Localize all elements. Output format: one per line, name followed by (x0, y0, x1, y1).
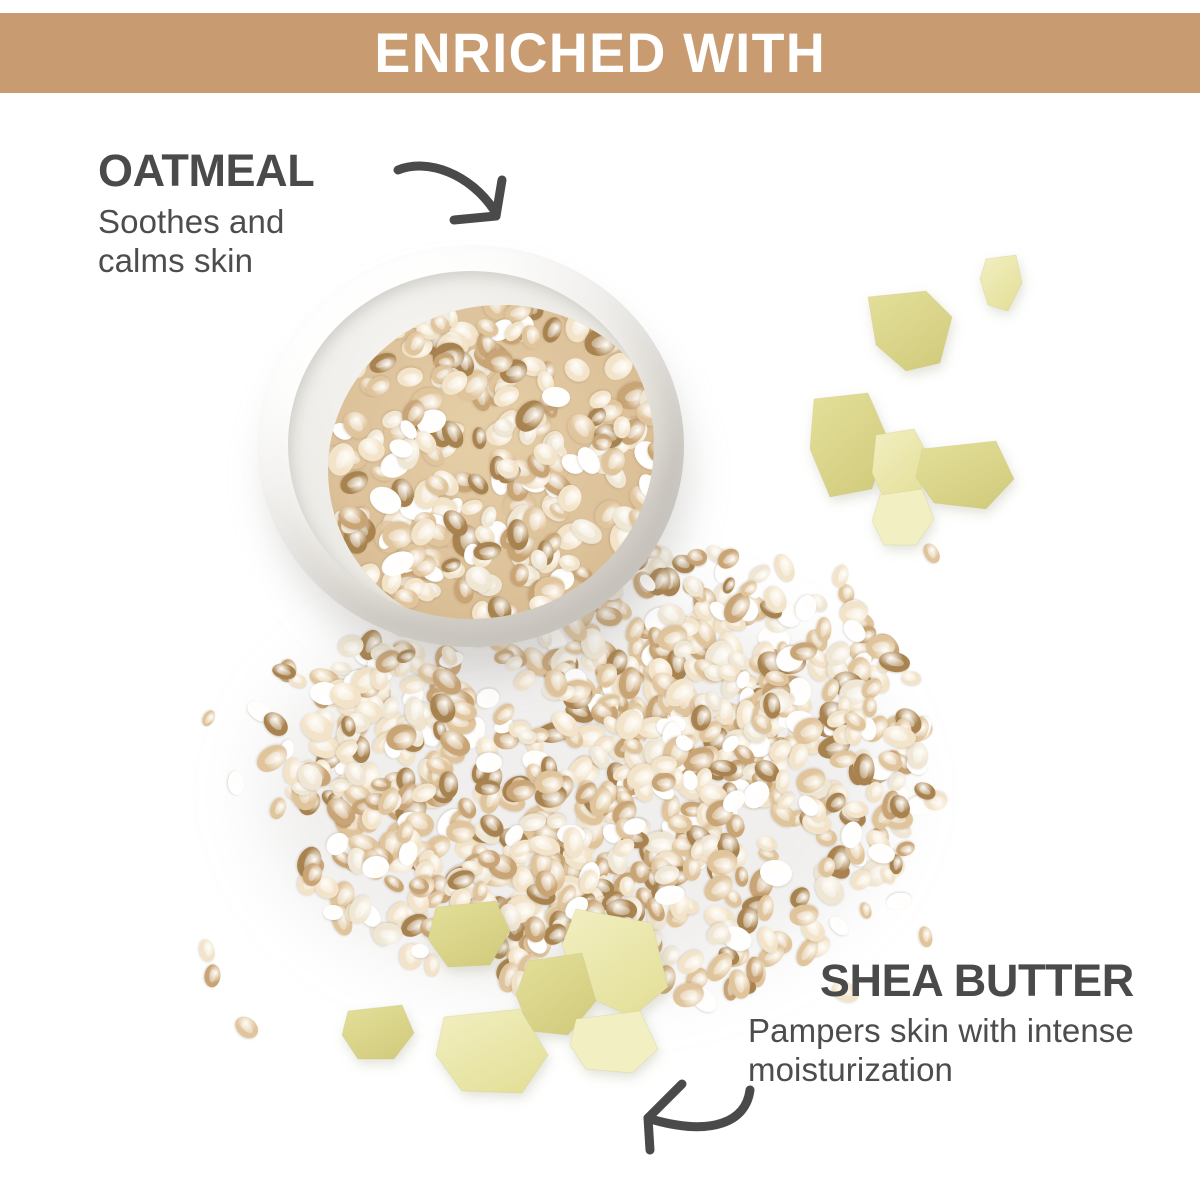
oat-flake (826, 914, 851, 939)
oat-flake (863, 697, 877, 717)
oat-flake (363, 372, 393, 400)
bowl-oat-fill (328, 305, 654, 619)
oat-flake (471, 427, 487, 450)
oat-flake (900, 670, 921, 686)
oat-flake (636, 607, 654, 619)
oat-flake (520, 323, 543, 350)
oat-flake (613, 416, 630, 438)
oat-flake (917, 926, 934, 949)
shea-butter-shard (872, 489, 934, 545)
curved-arrow-down-right-icon (392, 152, 522, 232)
callout-oatmeal-body-line2: calms skin (98, 242, 314, 281)
shea-butter-shard (570, 1011, 658, 1073)
callout-oatmeal-body-line1: Soothes and (98, 203, 314, 242)
shea-butter-shard (868, 291, 952, 371)
shea-butter-shard (916, 441, 1014, 509)
callout-shea-butter-body-line1: Pampers skin with intense (748, 1012, 1134, 1051)
callout-shea-butter: SHEA BUTTER Pampers skin with intense mo… (748, 958, 1134, 1090)
curved-arrow-up-left-icon (628, 1078, 758, 1158)
oat-flake (578, 583, 600, 600)
oat-flake (771, 551, 799, 585)
oat-flake (396, 366, 424, 388)
oat-flake (367, 349, 400, 376)
oat-flake (199, 708, 217, 728)
oat-flake (560, 354, 594, 387)
callout-shea-butter-body-line2: moisturization (748, 1051, 1134, 1090)
callout-shea-butter-heading: SHEA BUTTER (748, 958, 1134, 1004)
infographic-page: ENRICHED WITH OATMEAL S (0, 0, 1200, 1200)
shea-butter-shard (980, 255, 1022, 311)
shea-butter-chunks-top (810, 253, 1090, 553)
oat-flake (683, 856, 701, 880)
oat-flake (844, 800, 868, 818)
callout-oatmeal-body: Soothes and calms skin (98, 203, 314, 281)
oat-flake (231, 1012, 263, 1043)
oat-flake (475, 780, 500, 795)
enriched-with-banner: ENRICHED WITH (0, 13, 1200, 93)
oat-flake (858, 901, 873, 921)
shea-butter-shard (342, 1005, 414, 1059)
oat-flake (816, 617, 832, 643)
callout-oatmeal-heading: OATMEAL (98, 148, 314, 194)
oat-flake (198, 938, 217, 963)
bowl-inner-rim (288, 271, 654, 619)
oat-flake (203, 964, 221, 989)
oat-flake (886, 891, 913, 911)
callout-oatmeal: OATMEAL Soothes and calms skin (98, 148, 314, 281)
oat-bowl (258, 245, 686, 657)
oat-flake (539, 314, 565, 345)
callout-shea-butter-body: Pampers skin with intense moisturization (748, 1012, 1134, 1090)
oat-flake (459, 497, 484, 518)
banner-title: ENRICHED WITH (374, 25, 826, 81)
shea-butter-shard (428, 901, 510, 967)
oat-flake (228, 771, 246, 796)
